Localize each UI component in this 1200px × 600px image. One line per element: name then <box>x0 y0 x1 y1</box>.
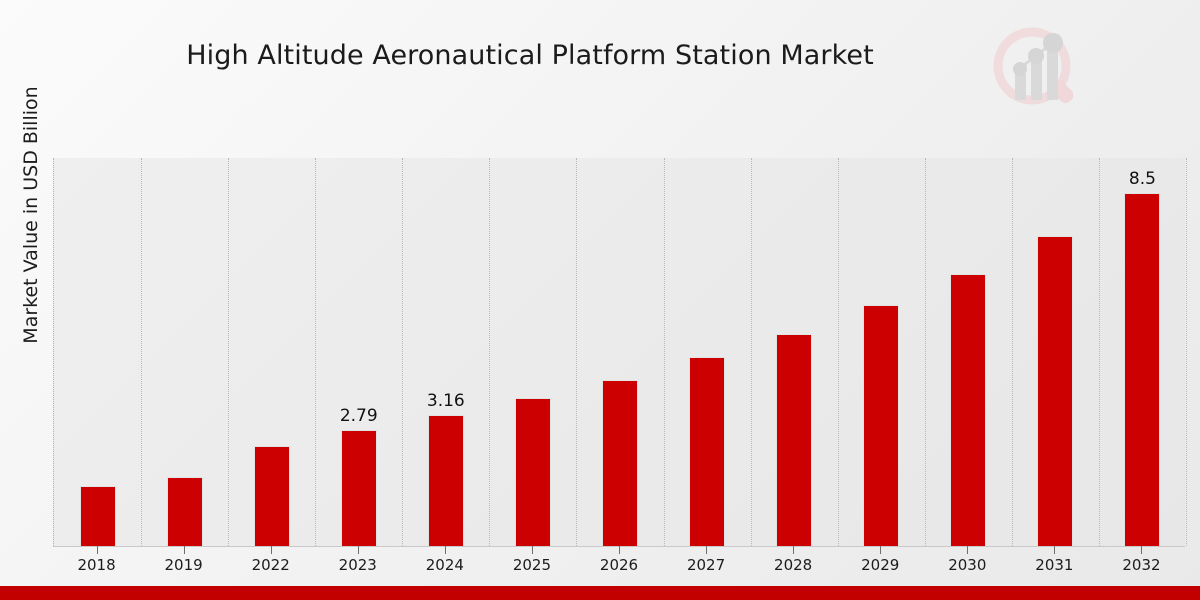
x-axis-tick-label-2031: 2031 <box>1009 556 1099 574</box>
x-axis-tick <box>1054 546 1055 554</box>
bar-slot <box>141 158 228 546</box>
x-axis-tick <box>793 546 794 554</box>
x-axis-tick <box>1141 546 1142 554</box>
x-axis-tick-label-2025: 2025 <box>487 556 577 574</box>
x-axis-tick <box>532 546 533 554</box>
bar-slot <box>576 158 663 546</box>
bar-slot: 8.5 <box>1099 158 1186 546</box>
x-axis-tick <box>706 546 707 554</box>
bar-slot: 3.16 <box>402 158 489 546</box>
bar-value-label-2024: 3.16 <box>406 391 486 411</box>
bar-slot <box>664 158 751 546</box>
x-axis-tick <box>445 546 446 554</box>
x-axis-tick-label-2019: 2019 <box>139 556 229 574</box>
bar-slot <box>838 158 925 546</box>
bar-slot <box>1012 158 1099 546</box>
x-axis-tick-label-2028: 2028 <box>748 556 838 574</box>
bar-2024[interactable] <box>428 415 464 546</box>
bar-2018[interactable] <box>80 486 116 546</box>
x-axis-tick <box>967 546 968 554</box>
x-axis-tick <box>619 546 620 554</box>
magnifying-glass-bar-chart-logo <box>986 22 1090 126</box>
bar-2019[interactable] <box>167 477 203 546</box>
x-axis-tick <box>271 546 272 554</box>
bar-slot: 2.79 <box>315 158 402 546</box>
bar-2030[interactable] <box>950 274 986 546</box>
x-axis-tick-label-2026: 2026 <box>574 556 664 574</box>
bar-2028[interactable] <box>776 334 812 546</box>
bar-2025[interactable] <box>515 398 551 546</box>
bar-slot <box>925 158 1012 546</box>
x-axis-tick <box>97 546 98 554</box>
bar-2026[interactable] <box>602 380 638 546</box>
bar-slot <box>489 158 576 546</box>
bar-slot <box>751 158 838 546</box>
bar-value-label-2032: 8.5 <box>1102 169 1182 189</box>
x-axis-tick-label-2022: 2022 <box>226 556 316 574</box>
x-axis-tick-label-2024: 2024 <box>400 556 490 574</box>
x-axis-tick <box>880 546 881 554</box>
bar-2031[interactable] <box>1037 236 1073 546</box>
bar-2029[interactable] <box>863 305 899 546</box>
bar-slot <box>228 158 315 546</box>
x-axis-tick-label-2030: 2030 <box>922 556 1012 574</box>
bar-slot <box>54 158 141 546</box>
plot-area: 2.793.168.5 <box>53 158 1185 546</box>
y-axis-title: Market Value in USD Billion <box>20 15 42 415</box>
bar-2027[interactable] <box>689 357 725 546</box>
x-axis-tick-label-2023: 2023 <box>313 556 403 574</box>
x-axis-tick-label-2032: 2032 <box>1096 556 1186 574</box>
chart-canvas: High Altitude Aeronautical Platform Stat… <box>0 0 1200 600</box>
bar-2023[interactable] <box>341 430 377 546</box>
x-axis-tick-label-2029: 2029 <box>835 556 925 574</box>
x-axis-tick-label-2018: 2018 <box>52 556 142 574</box>
bar-value-label-2023: 2.79 <box>319 406 399 426</box>
page-title: High Altitude Aeronautical Platform Stat… <box>0 40 1060 71</box>
bar-2022[interactable] <box>254 446 290 546</box>
x-axis-tick-label-2027: 2027 <box>661 556 751 574</box>
x-axis-tick <box>358 546 359 554</box>
x-axis-tick <box>184 546 185 554</box>
bar-2032[interactable] <box>1124 193 1160 546</box>
footer-accent-strip <box>0 586 1200 600</box>
gridline <box>1186 158 1187 546</box>
